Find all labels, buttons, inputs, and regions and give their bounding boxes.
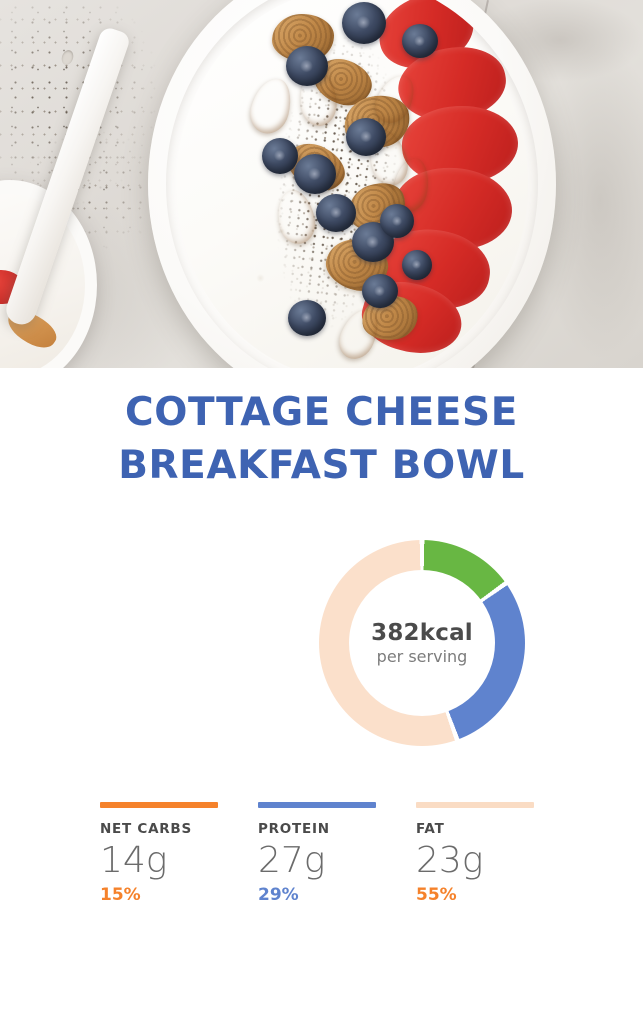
food-photo bbox=[0, 0, 643, 368]
page-title: COTTAGE CHEESE BREAKFAST BOWL bbox=[40, 386, 603, 492]
blueberry bbox=[288, 300, 326, 336]
blueberry bbox=[294, 154, 336, 194]
blueberry bbox=[342, 2, 386, 44]
blueberry bbox=[286, 46, 328, 86]
blueberry bbox=[362, 274, 398, 308]
recipe-title-block: COTTAGE CHEESE BREAKFAST BOWL bbox=[0, 368, 643, 492]
blueberry bbox=[346, 118, 386, 156]
blueberry bbox=[262, 138, 298, 174]
macro-amount: 23g bbox=[416, 839, 534, 883]
blueberry bbox=[316, 194, 356, 232]
macro-amount: 14g bbox=[100, 839, 218, 883]
per-serving-label: per serving bbox=[377, 647, 468, 666]
macro-percent: 29% bbox=[258, 885, 376, 905]
macro-protein: PROTEIN27g29% bbox=[258, 802, 376, 905]
macro-label: FAT bbox=[416, 821, 534, 837]
donut-ring: 382kcal per serving bbox=[319, 540, 525, 746]
page-title-line-1: COTTAGE CHEESE bbox=[125, 390, 518, 435]
macro-label: NET CARBS bbox=[100, 821, 218, 837]
macro-percent: 15% bbox=[100, 885, 218, 905]
page-title-line-2: BREAKFAST BOWL bbox=[118, 443, 525, 488]
bowl-rim bbox=[166, 0, 538, 368]
macro-breakdown: NET CARBS14g15%PROTEIN27g29%FAT23g55% bbox=[0, 764, 643, 905]
macro-fat: FAT23g55% bbox=[416, 802, 534, 905]
blueberry bbox=[380, 204, 414, 238]
macro-amount: 27g bbox=[258, 839, 376, 883]
hero-photo bbox=[0, 0, 643, 368]
macro-percent: 55% bbox=[416, 885, 534, 905]
donut-center: 382kcal per serving bbox=[349, 570, 495, 716]
macro-color-bar bbox=[416, 802, 534, 808]
blueberry bbox=[402, 250, 432, 280]
macro-label: PROTEIN bbox=[258, 821, 376, 837]
blueberry bbox=[402, 24, 438, 58]
calorie-value: 382kcal bbox=[371, 620, 473, 646]
macro-donut-chart: 382kcal per serving bbox=[0, 514, 643, 764]
macro-color-bar bbox=[258, 802, 376, 808]
breakfast-bowl bbox=[148, 0, 556, 368]
macro-net-carbs: NET CARBS14g15% bbox=[100, 802, 218, 905]
macro-color-bar bbox=[100, 802, 218, 808]
